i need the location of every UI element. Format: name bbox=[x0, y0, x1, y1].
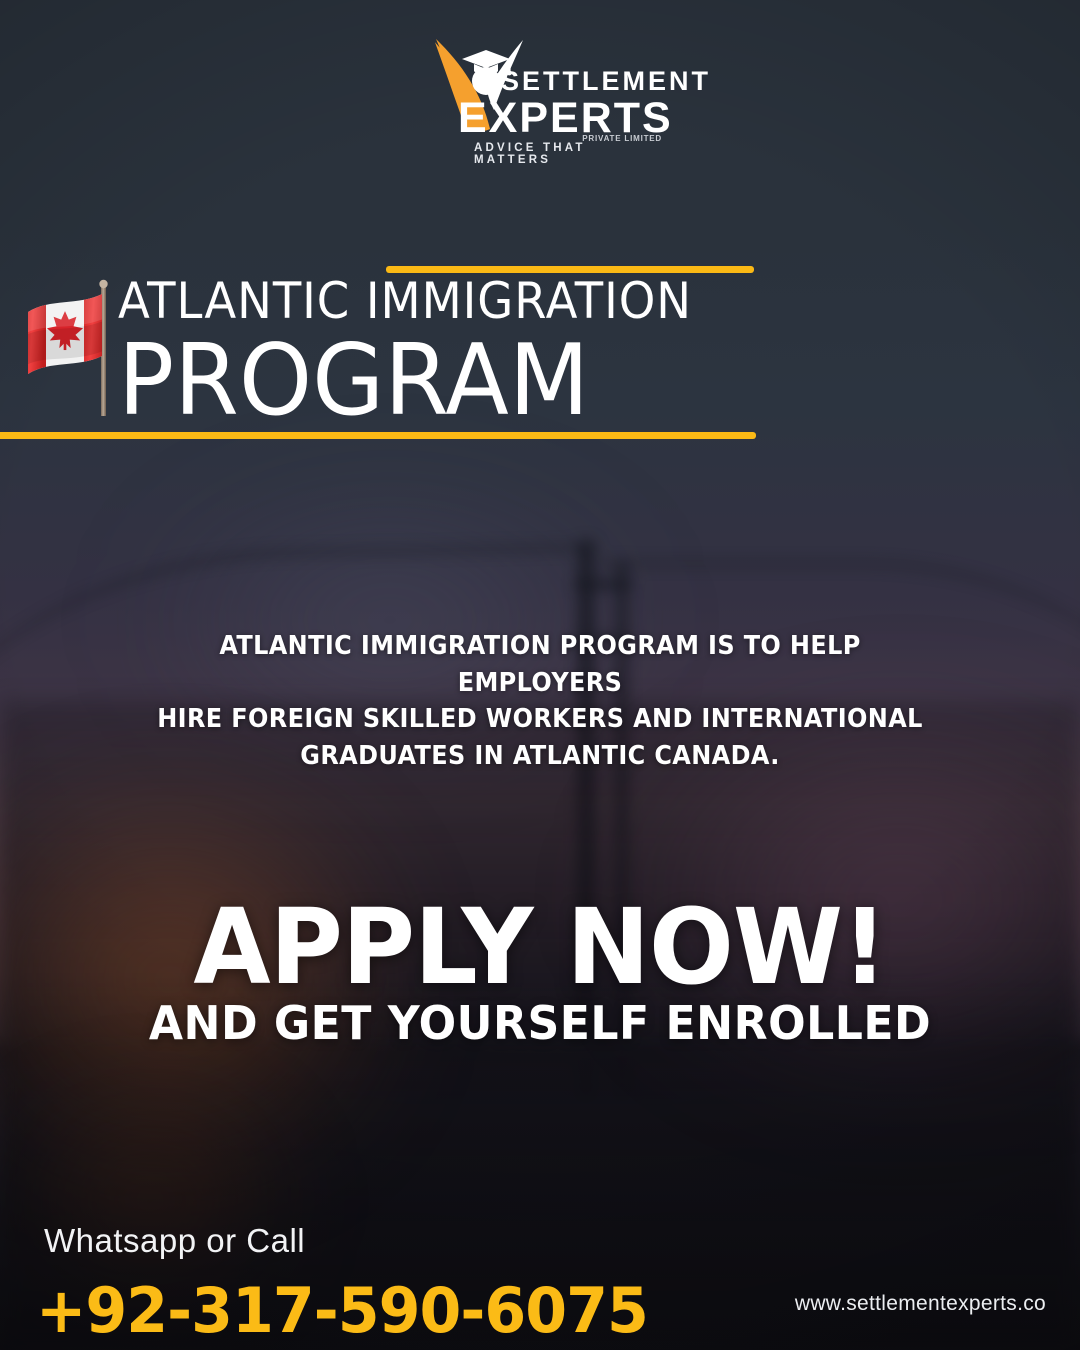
body-copy: ATLANTIC IMMIGRATION PROGRAM IS TO HELP … bbox=[130, 628, 950, 775]
poster-content: SETTLEMENT EXPERTS PRIVATE LIMITED ADVIC… bbox=[0, 0, 1080, 1350]
page-title: ATLANTIC IMMIGRATION PROGRAM bbox=[118, 276, 818, 430]
brand-wordmark: SETTLEMENT EXPERTS PRIVATE LIMITED ADVIC… bbox=[458, 68, 668, 140]
body-copy-line3: GRADUATES IN ATLANTIC CANADA. bbox=[155, 738, 926, 775]
headline-line1: ATLANTIC IMMIGRATION bbox=[118, 276, 769, 326]
body-copy-line1: ATLANTIC IMMIGRATION PROGRAM IS TO HELP … bbox=[155, 628, 926, 701]
brand-tagline: ADVICE THAT MATTERS bbox=[474, 142, 668, 166]
brand-logo: SETTLEMENT EXPERTS PRIVATE LIMITED ADVIC… bbox=[410, 26, 670, 146]
cta-block[interactable]: APPLY NOW! AND GET YOURSELF ENROLLED bbox=[0, 898, 1080, 1046]
canada-flag-icon bbox=[16, 278, 124, 418]
promo-poster: SETTLEMENT EXPERTS PRIVATE LIMITED ADVIC… bbox=[0, 0, 1080, 1350]
headline-rule-bottom bbox=[0, 432, 756, 439]
cta-headline[interactable]: APPLY NOW! bbox=[22, 898, 1059, 998]
contact-channel-label: Whatsapp or Call bbox=[44, 1222, 305, 1260]
contact-phone-number[interactable]: +92-317-590-6075 bbox=[36, 1274, 648, 1347]
headline-line2: PROGRAM bbox=[118, 332, 783, 430]
body-copy-line2: HIRE FOREIGN SKILLED WORKERS AND INTERNA… bbox=[155, 701, 926, 738]
website-url[interactable]: www.settlementexperts.co bbox=[795, 1292, 1046, 1316]
cta-subtext: AND GET YOURSELF ENROLLED bbox=[22, 1000, 1059, 1046]
brand-name-line1: SETTLEMENT bbox=[458, 68, 668, 95]
